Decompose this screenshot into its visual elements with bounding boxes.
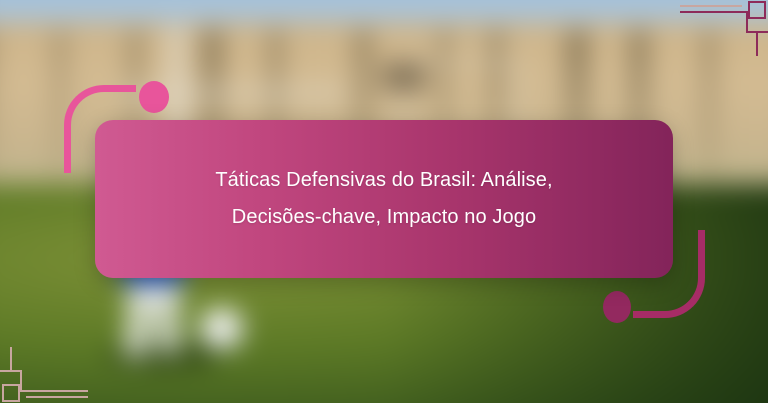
corner-ornament-bottom-left bbox=[0, 347, 88, 403]
ornament-line bbox=[756, 33, 758, 56]
ornament-line bbox=[680, 5, 742, 7]
page-title: Táticas Defensivas do Brasil: Análise, D… bbox=[181, 162, 586, 236]
corner-ornament-top-right bbox=[680, 0, 768, 56]
ornament-line bbox=[20, 370, 22, 392]
ornament-line bbox=[26, 396, 88, 398]
ornament-line bbox=[0, 370, 22, 372]
title-card: Táticas Defensivas do Brasil: Análise, D… bbox=[95, 120, 673, 278]
ornament-line bbox=[20, 390, 88, 392]
ornament-corner-box bbox=[2, 384, 20, 402]
banner-stage: Táticas Defensivas do Brasil: Análise, D… bbox=[0, 0, 768, 403]
background-soccer-ball bbox=[200, 308, 244, 350]
ornament-line bbox=[10, 347, 12, 370]
ornament-line bbox=[680, 11, 748, 13]
ornament-corner-box bbox=[748, 1, 766, 19]
circle-icon-top-left bbox=[139, 81, 169, 113]
page-title-line-2: Decisões-chave, Impacto no Jogo bbox=[232, 206, 536, 228]
page-title-line-1: Táticas Defensivas do Brasil: Análise, bbox=[215, 169, 552, 191]
circle-icon-bottom-right bbox=[603, 291, 631, 323]
background-dark-patch bbox=[382, 62, 426, 92]
